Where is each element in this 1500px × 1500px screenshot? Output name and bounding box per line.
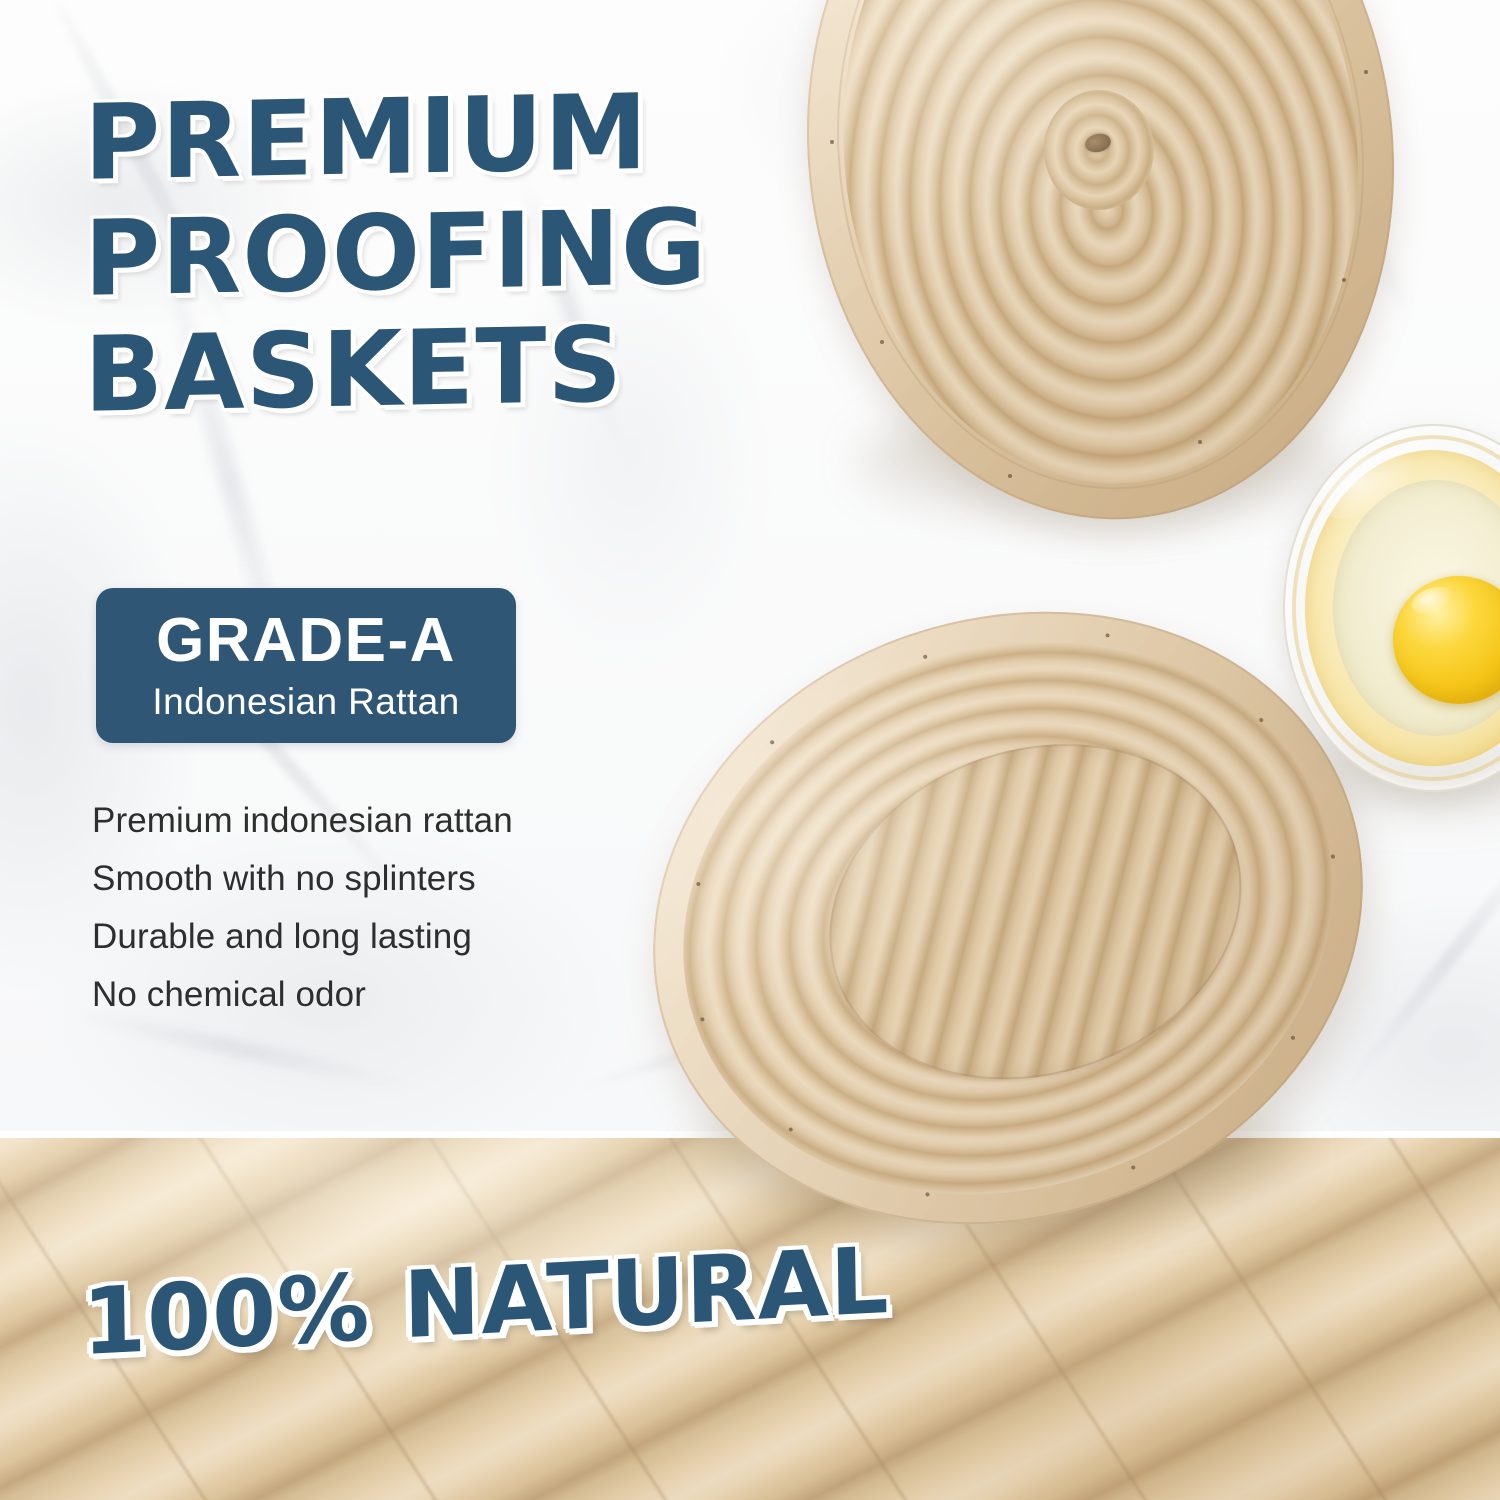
feature-item: Smooth with no splinters xyxy=(92,861,513,896)
grade-a-badge: GRADE-A Indonesian Rattan xyxy=(96,588,516,743)
headline-line-3: BASKETS xyxy=(84,311,784,426)
badge-sub-label: Indonesian Rattan xyxy=(152,683,459,720)
natural-banner-label: 100% NATURAL xyxy=(81,1227,890,1376)
feature-item: No chemical odor xyxy=(92,977,513,1012)
product-infographic-canvas: PREMIUM PROOFING BASKETS GRADE-A Indones… xyxy=(0,0,1500,1500)
feature-item: Premium indonesian rattan xyxy=(92,803,513,838)
headline-block: PREMIUM PROOFING BASKETS xyxy=(84,86,784,434)
badge-main-label: GRADE-A xyxy=(156,610,456,672)
feature-item: Durable and long lasting xyxy=(92,919,513,954)
headline-line-2: PROOFING xyxy=(84,195,784,310)
glass-bowl-with-raw-egg xyxy=(1283,424,1500,792)
natural-banner: 100% NATURAL xyxy=(82,1248,889,1355)
headline-line-1: PREMIUM xyxy=(84,79,784,194)
feature-list: Premium indonesian rattan Smooth with no… xyxy=(92,803,513,1035)
